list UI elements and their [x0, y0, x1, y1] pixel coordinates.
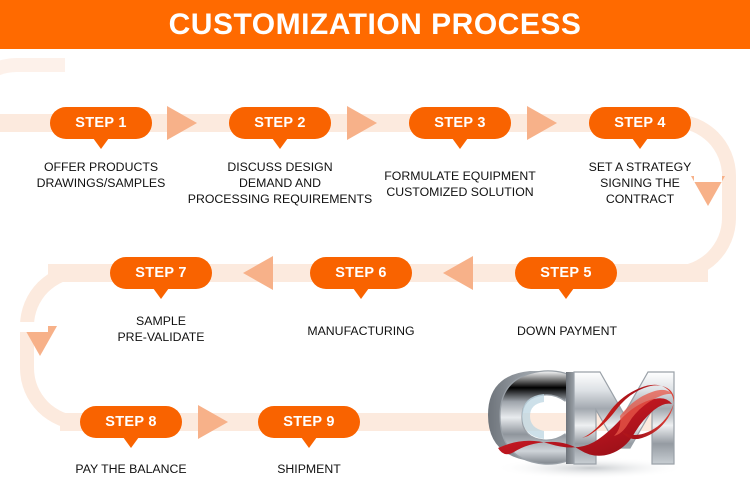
- arrow-step5-to-step6: [443, 256, 473, 290]
- step-caption-5-line-1: DOWN PAYMENT: [487, 323, 647, 339]
- step-caption-8: PAY THE BALANCE: [51, 461, 211, 477]
- step-caption-3-line-2: CUSTOMIZED SOLUTION: [360, 184, 560, 200]
- step-caption-7-line-2: PRE-VALIDATE: [81, 329, 241, 345]
- step-caption-2-line-3: PROCESSING REQUIREMENTS: [180, 191, 380, 207]
- customization-process-infographic: CUSTOMIZATION PROCESS STEP 1 STEP 2 STEP…: [0, 0, 750, 485]
- step-caption-9: SHIPMENT: [229, 461, 389, 477]
- step-caption-1: OFFER PRODUCTS DRAWINGS/SAMPLES: [1, 159, 201, 191]
- step-caption-7: SAMPLE PRE-VALIDATE: [81, 313, 241, 345]
- step-caption-6-line-1: MANUFACTURING: [281, 323, 441, 339]
- step-caption-4-line-3: CONTRACT: [560, 191, 720, 207]
- cm-logo: [470, 360, 720, 480]
- arrow-step8-to-step9: [198, 405, 228, 439]
- step-caption-3: FORMULATE EQUIPMENT CUSTOMIZED SOLUTION: [360, 168, 560, 200]
- step-caption-8-line-1: PAY THE BALANCE: [51, 461, 211, 477]
- step-caption-4-line-1: SET A STRATEGY: [560, 159, 720, 175]
- step-pill-3[interactable]: STEP 3: [409, 107, 511, 139]
- step-caption-2-line-1: DISCUSS DESIGN: [180, 159, 380, 175]
- step-pill-9[interactable]: STEP 9: [258, 406, 360, 438]
- step-caption-4: SET A STRATEGY SIGNING THE CONTRACT: [560, 159, 720, 207]
- curve-left-notch: [20, 322, 48, 332]
- step-caption-1-line-1: OFFER PRODUCTS: [1, 159, 201, 175]
- step-caption-5: DOWN PAYMENT: [487, 323, 647, 339]
- step-pill-1[interactable]: STEP 1: [50, 107, 152, 139]
- header-bar: CUSTOMIZATION PROCESS: [0, 0, 750, 49]
- arrow-step2-to-step3: [347, 106, 377, 140]
- step-caption-4-line-2: SIGNING THE: [560, 175, 720, 191]
- arrow-step1-to-step2: [167, 106, 197, 140]
- step-caption-1-line-2: DRAWINGS/SAMPLES: [1, 175, 201, 191]
- step-caption-2-line-2: DEMAND AND: [180, 175, 380, 191]
- step-pill-2[interactable]: STEP 2: [229, 107, 331, 139]
- step-pill-4[interactable]: STEP 4: [589, 107, 691, 139]
- step-pill-5[interactable]: STEP 5: [515, 257, 617, 289]
- arrow-step3-to-step4: [527, 106, 557, 140]
- step-caption-9-line-1: SHIPMENT: [229, 461, 389, 477]
- step-pill-8[interactable]: STEP 8: [80, 406, 182, 438]
- step-caption-2: DISCUSS DESIGN DEMAND AND PROCESSING REQ…: [180, 159, 380, 207]
- step-caption-7-line-1: SAMPLE: [81, 313, 241, 329]
- step-caption-3-line-1: FORMULATE EQUIPMENT: [360, 168, 560, 184]
- step-caption-6: MANUFACTURING: [281, 323, 441, 339]
- arrow-step6-to-step7: [243, 256, 273, 290]
- page-title: CUSTOMIZATION PROCESS: [0, 0, 750, 49]
- step-pill-6[interactable]: STEP 6: [310, 257, 412, 289]
- step-pill-7[interactable]: STEP 7: [110, 257, 212, 289]
